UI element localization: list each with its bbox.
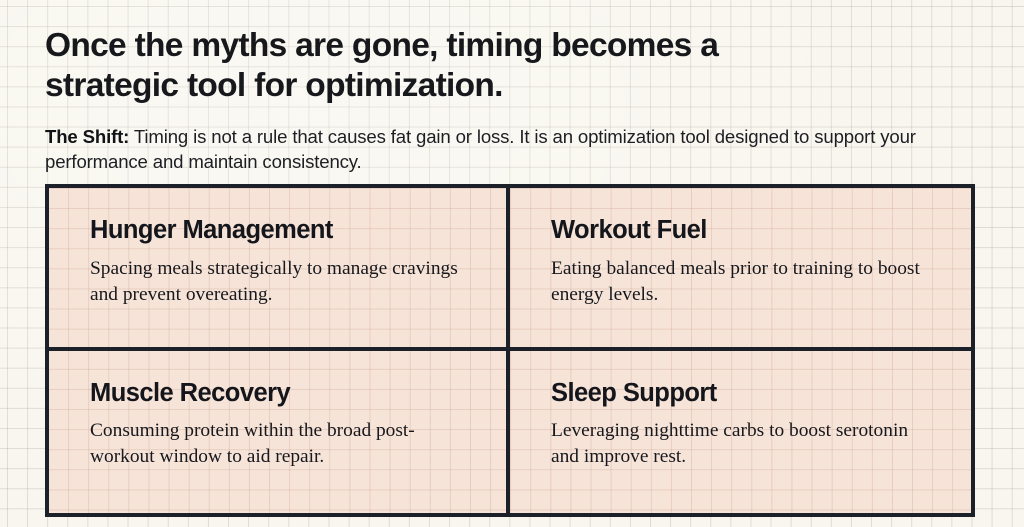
infographic-page: Once the myths are gone, timing becomes … [0,0,1024,527]
quadrant-card-workout-fuel[interactable]: Workout Fuel Eating balanced meals prior… [510,188,971,351]
quadrant-description: Eating balanced meals prior to training … [551,256,937,308]
subtitle-lead-label: The Shift: [45,126,129,147]
quadrant-card-sleep-support[interactable]: Sleep Support Leveraging nighttime carbs… [510,351,971,514]
quadrant-card-hunger-management[interactable]: Hunger Management Spacing meals strategi… [49,188,510,351]
quadrant-panel: Hunger Management Spacing meals strategi… [45,184,975,517]
page-title: Once the myths are gone, timing becomes … [45,26,835,105]
quadrant-grid: Hunger Management Spacing meals strategi… [49,188,971,513]
quadrant-title: Workout Fuel [551,216,937,245]
quadrant-card-muscle-recovery[interactable]: Muscle Recovery Consuming protein within… [49,351,510,514]
quadrant-description: Consuming protein within the broad post-… [90,418,472,470]
quadrant-title: Muscle Recovery [90,379,472,408]
quadrant-title: Hunger Management [90,216,472,245]
subtitle-body-text: Timing is not a rule that causes fat gai… [45,126,916,171]
quadrant-description: Spacing meals strategically to manage cr… [90,256,472,308]
header: Once the myths are gone, timing becomes … [45,26,975,174]
subtitle: The Shift: Timing is not a rule that cau… [45,125,925,174]
quadrant-title: Sleep Support [551,379,937,408]
quadrant-description: Leveraging nighttime carbs to boost sero… [551,418,937,470]
